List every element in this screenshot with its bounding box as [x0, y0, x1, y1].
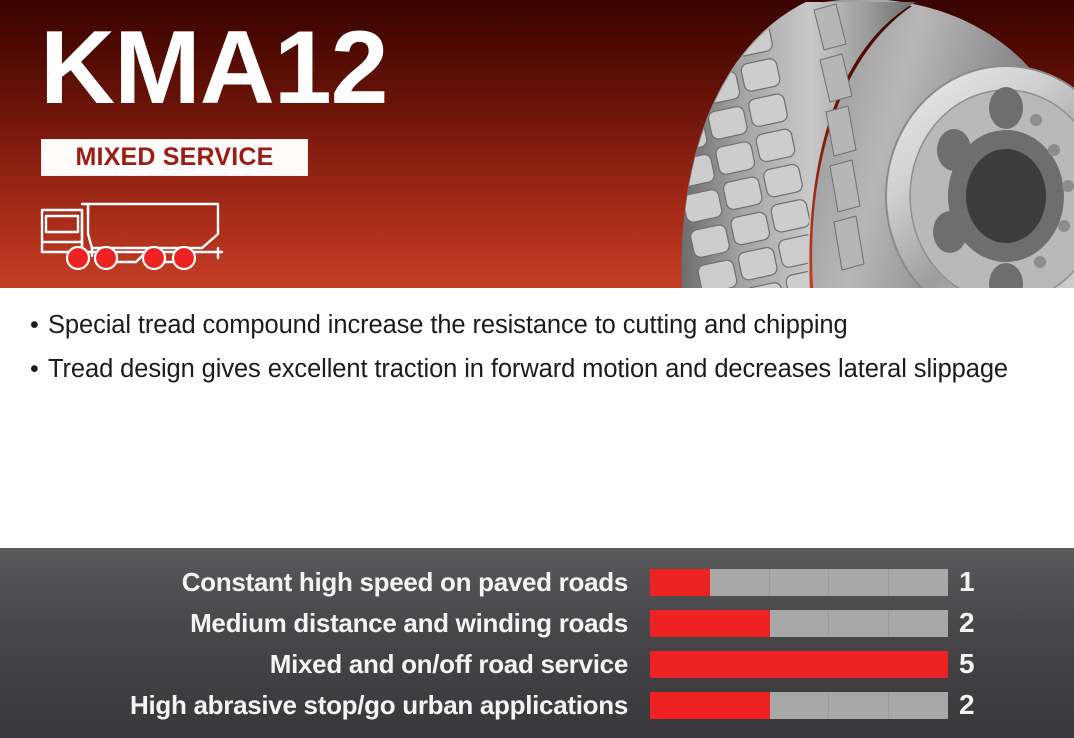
tire-product-image: KMA 12	[654, 0, 1074, 288]
table-row: Mixed and on/off road service 5	[0, 644, 1074, 684]
feature-text: Tread design gives excellent traction in…	[48, 352, 1040, 386]
service-category-badge: MIXED SERVICE	[41, 139, 308, 176]
rating-segment	[650, 569, 710, 596]
rating-segment	[770, 569, 830, 596]
rating-segment	[650, 651, 710, 678]
rating-value: 2	[948, 691, 988, 719]
rating-segment	[650, 692, 710, 719]
rating-segment	[829, 692, 889, 719]
rating-label: Medium distance and winding roads	[0, 608, 650, 639]
rating-segment	[769, 651, 829, 678]
table-row: High abrasive stop/go urban applications…	[0, 685, 1074, 725]
feature-bullet-list: • Special tread compound increase the re…	[30, 308, 1040, 396]
header-banner: KMA 12	[0, 0, 1074, 288]
rating-segment	[770, 692, 830, 719]
rating-segment	[889, 569, 948, 596]
rating-bar	[650, 569, 948, 596]
rating-bar	[650, 692, 948, 719]
rating-segment	[650, 610, 710, 637]
service-category-label: MIXED SERVICE	[75, 143, 273, 172]
product-spec-sheet: KMA 12	[0, 0, 1074, 738]
list-item: • Special tread compound increase the re…	[30, 308, 1040, 342]
rating-segment	[829, 651, 889, 678]
rating-segment	[710, 569, 770, 596]
rating-label: High abrasive stop/go urban applications	[0, 690, 650, 721]
header-left-content: KMA12 MIXED SERVICE	[0, 0, 660, 288]
rating-value: 5	[948, 650, 988, 678]
rating-segment	[710, 692, 770, 719]
rating-label: Mixed and on/off road service	[0, 649, 650, 680]
rating-segment	[888, 651, 948, 678]
page-title: KMA12	[40, 12, 388, 124]
rating-segment	[710, 610, 770, 637]
feature-text: Special tread compound increase the resi…	[48, 308, 1040, 342]
rating-segment	[889, 610, 948, 637]
bullet-point-icon: •	[30, 352, 48, 386]
rating-value: 1	[948, 568, 988, 596]
list-item: • Tread design gives excellent traction …	[30, 352, 1040, 386]
application-ratings-panel: Constant high speed on paved roads 1 Med…	[0, 548, 1074, 738]
dump-truck-icon	[36, 190, 226, 272]
rating-segment	[710, 651, 770, 678]
rating-bar	[650, 610, 948, 637]
rating-value: 2	[948, 609, 988, 637]
table-row: Medium distance and winding roads 2	[0, 603, 1074, 643]
rating-segment	[829, 569, 889, 596]
table-row: Constant high speed on paved roads 1	[0, 562, 1074, 602]
rating-segment	[829, 610, 889, 637]
features-section: • Special tread compound increase the re…	[0, 288, 1074, 548]
bullet-point-icon: •	[30, 308, 48, 342]
rating-bar	[650, 651, 948, 678]
rating-label: Constant high speed on paved roads	[0, 567, 650, 598]
rating-segment	[770, 610, 830, 637]
rating-segment	[889, 692, 948, 719]
